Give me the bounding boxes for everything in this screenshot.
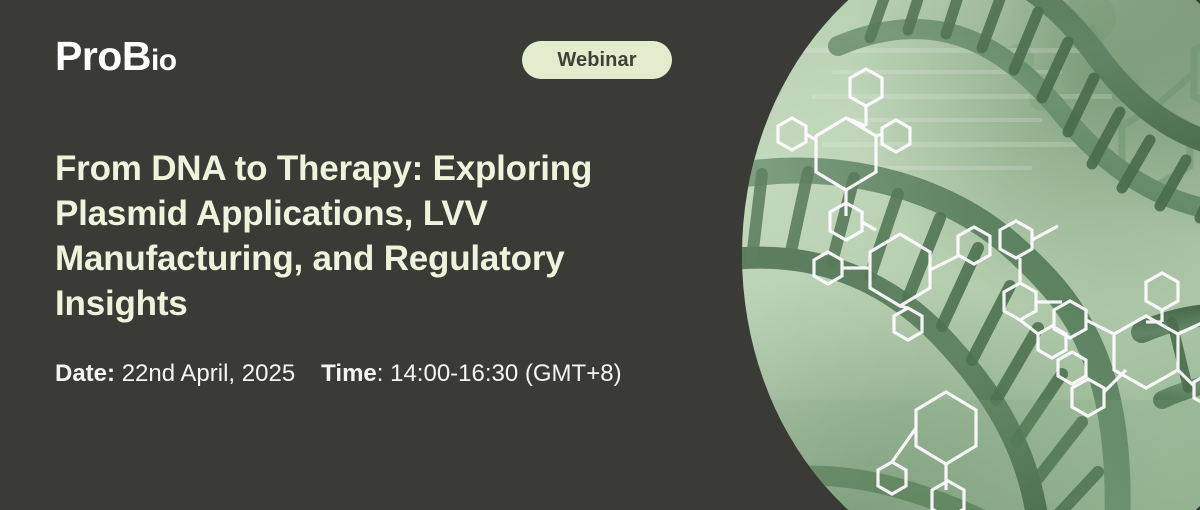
time-colon: : — [377, 360, 384, 387]
logo-text-pro: Pro — [55, 33, 122, 79]
headline-line-4: Insights — [55, 281, 715, 326]
webinar-badge-label: Webinar — [557, 49, 636, 72]
page-title: From DNA to Therapy: Exploring Plasmid A… — [55, 146, 715, 326]
artwork-light-veil — [742, 0, 1200, 510]
date-value: 22nd April, 2025 — [122, 360, 295, 387]
logo-text-io: io — [151, 44, 177, 77]
time-label: Time — [321, 360, 377, 387]
dna-artwork-panel — [742, 0, 1200, 510]
probio-logo[interactable]: ProBio — [55, 36, 177, 77]
time-value: 14:00-16:30 (GMT+8) — [390, 360, 621, 387]
headline-line-2: Plasmid Applications, LVV — [55, 191, 715, 236]
logo-text-b: B — [122, 33, 151, 79]
webinar-banner: ProBio Webinar From DNA to Therapy: Expl… — [0, 0, 1200, 510]
headline-line-3: Manufacturing, and Regulatory — [55, 236, 715, 281]
event-meta: Date: 22nd April, 2025Time: 14:00-16:30 … — [55, 358, 622, 390]
headline-line-1: From DNA to Therapy: Exploring — [55, 146, 715, 191]
date-label: Date: — [55, 360, 115, 387]
webinar-badge: Webinar — [522, 41, 672, 79]
